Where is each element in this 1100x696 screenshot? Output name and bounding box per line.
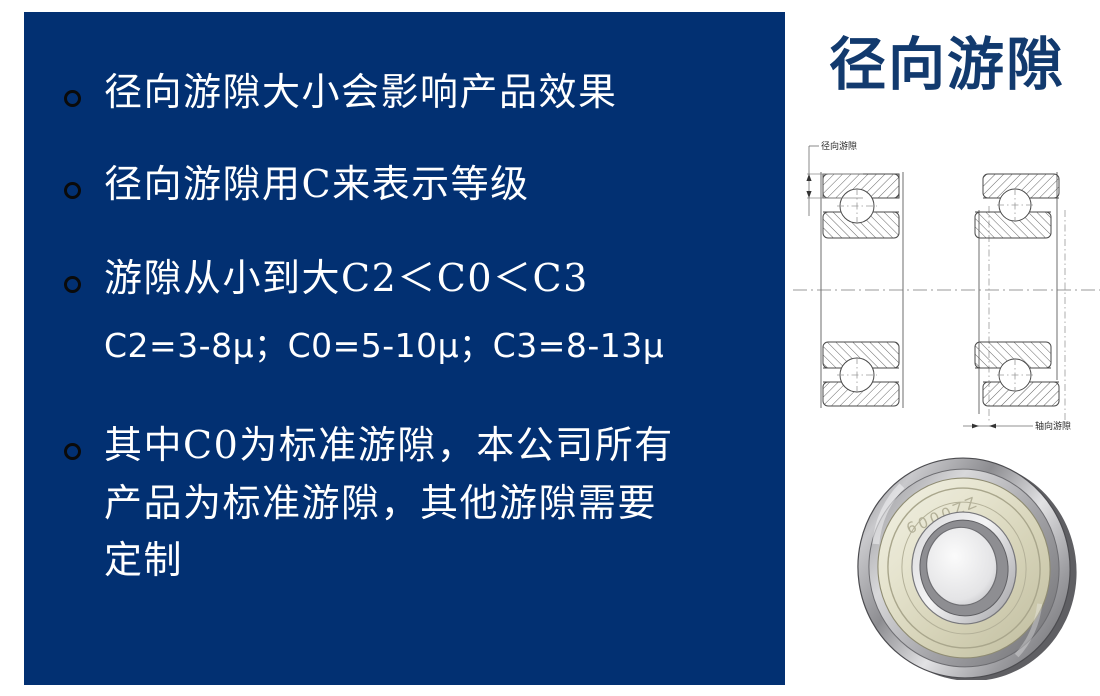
left-bearing-section: 径向游隙 [806,140,903,408]
bullet-text: 其中C0为标准游隙，本公司所有 [104,417,767,475]
slide-root: 径向游隙大小会影响产品效果 径向游隙用C来表示等级 游隙从小到大C2＜C0＜C3… [0,0,1100,696]
clearance-spec-text: C2=3-8μ；C0=5-10μ；C3=8-13μ [104,321,767,371]
list-item: 游隙从小到大C2＜C0＜C3 C2=3-8μ；C0=5-10μ；C3=8-13μ [50,250,767,371]
content-panel: 径向游隙大小会影响产品效果 径向游隙用C来表示等级 游隙从小到大C2＜C0＜C3… [24,12,785,685]
bullet-text: 径向游隙用C来表示等级 [104,156,767,214]
bullet-text: 产品为标准游隙，其他游隙需要 [104,475,767,533]
bullet-text: 径向游隙大小会影响产品效果 [104,64,767,122]
bullet-text: 游隙从小到大C2＜C0＜C3 [104,250,767,308]
bullet-ring-icon [64,443,81,460]
list-item: 径向游隙大小会影响产品效果 [50,64,767,122]
bearing-clearance-diagram: 径向游隙 [793,130,1100,450]
radial-clearance-label: 径向游隙 [821,140,857,152]
list-item: 径向游隙用C来表示等级 [50,156,767,214]
axial-clearance-label: 轴向游隙 [1035,420,1071,432]
list-item: 其中C0为标准游隙，本公司所有 产品为标准游隙，其他游隙需要 定制 [50,417,767,590]
bullet-list: 径向游隙大小会影响产品效果 径向游隙用C来表示等级 游隙从小到大C2＜C0＜C3… [50,64,767,590]
right-bearing-section: 轴向游隙 [963,172,1071,432]
bullet-ring-icon [64,276,81,293]
bullet-text: 定制 [104,532,767,590]
bearing-product-photo: 6000ZZ [836,452,1092,680]
page-title: 径向游隙 [801,36,1093,93]
bullet-ring-icon [64,90,81,107]
bullet-ring-icon [64,182,81,199]
